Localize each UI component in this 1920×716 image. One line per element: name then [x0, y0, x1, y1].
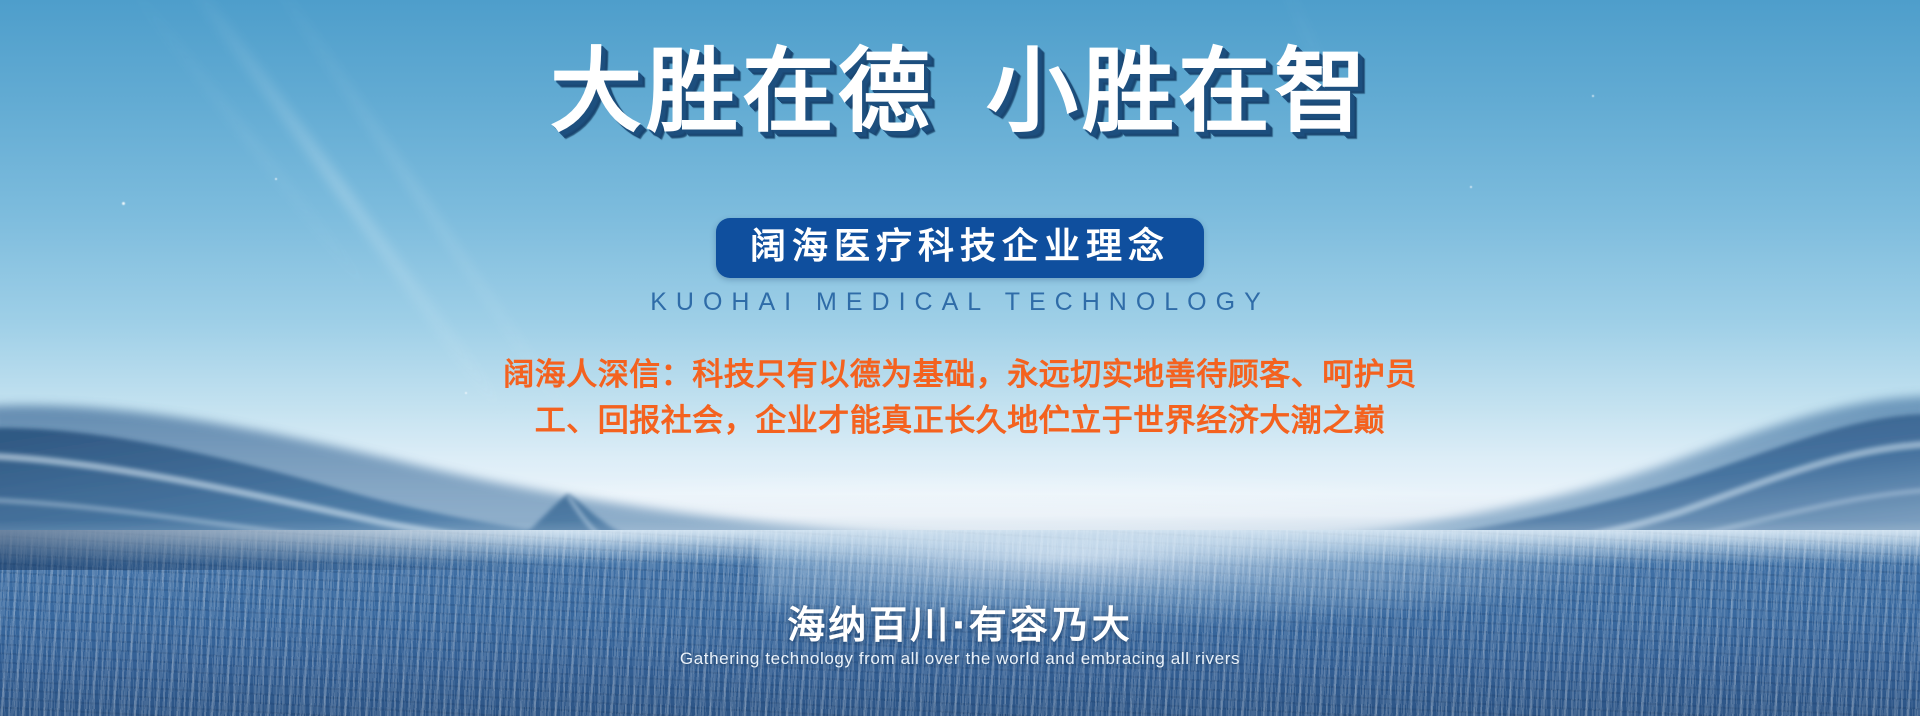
- philosophy-line-1: 阔海人深信：科技只有以德为基础，永远切实地善待顾客、呵护员: [370, 352, 1550, 398]
- page-title: 大胜在德小胜在智: [0, 46, 1920, 138]
- hero-banner: 大胜在德小胜在智 阔海医疗科技企业理念 KUOHAI MEDICAL TECHN…: [0, 0, 1920, 716]
- philosophy-paragraph: 阔海人深信：科技只有以德为基础，永远切实地善待顾客、呵护员 工、回报社会，企业才…: [370, 352, 1550, 444]
- headline-right: 小胜在智: [986, 38, 1370, 145]
- motto-chinese: 海纳百川·有容乃大: [0, 594, 1920, 649]
- concept-badge: 阔海医疗科技企业理念: [716, 218, 1204, 278]
- headline-left: 大胜在德: [550, 38, 934, 145]
- english-tagline: KUOHAI MEDICAL TECHNOLOGY: [0, 288, 1920, 317]
- motto-english: Gathering technology from all over the w…: [0, 649, 1920, 669]
- philosophy-line-2: 工、回报社会，企业才能真正长久地伫立于世界经济大潮之巅: [370, 398, 1550, 444]
- banner-content: 大胜在德小胜在智 阔海医疗科技企业理念 KUOHAI MEDICAL TECHN…: [0, 0, 1920, 716]
